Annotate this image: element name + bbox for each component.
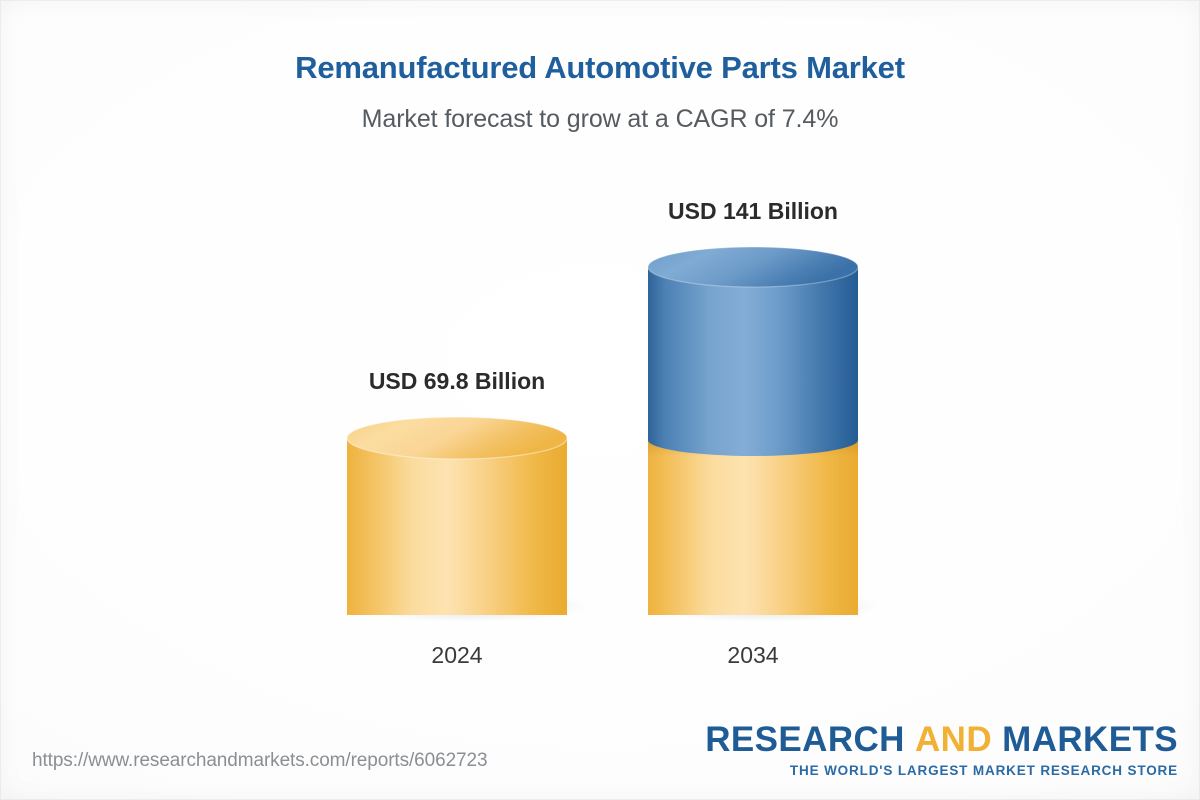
source-url[interactable]: https://www.researchandmarkets.com/repor… [32,750,487,772]
research-and-markets-logo[interactable]: RESEARCH AND MARKETS THE WORLD'S LARGEST… [705,722,1178,778]
bar-2024 [347,417,588,622]
bar-category-label-2034: 2034 [653,642,853,669]
bar-chart: USD 69.8 Billion USD 141 Billion 2024 20… [0,0,1200,800]
logo-word-markets: MARKETS [1002,720,1178,759]
bar-2034-segment-growth [648,267,858,456]
logo-wordmark: RESEARCH AND MARKETS [705,722,1178,757]
bar-value-label-2024: USD 69.8 Billion [307,368,607,395]
logo-tagline: THE WORLD'S LARGEST MARKET RESEARCH STOR… [705,763,1178,778]
bar-2024-body [347,438,567,615]
logo-word-research: RESEARCH [705,720,905,759]
cylinder-bars-svg [0,0,1200,800]
bar-2034-segment-base [648,440,858,615]
bar-value-label-2034: USD 141 Billion [603,198,903,225]
logo-word-and: AND [915,720,992,759]
infographic-canvas: Remanufactured Automotive Parts Market M… [0,0,1200,800]
bar-category-label-2024: 2024 [357,642,557,669]
bar-2034 [648,247,879,622]
